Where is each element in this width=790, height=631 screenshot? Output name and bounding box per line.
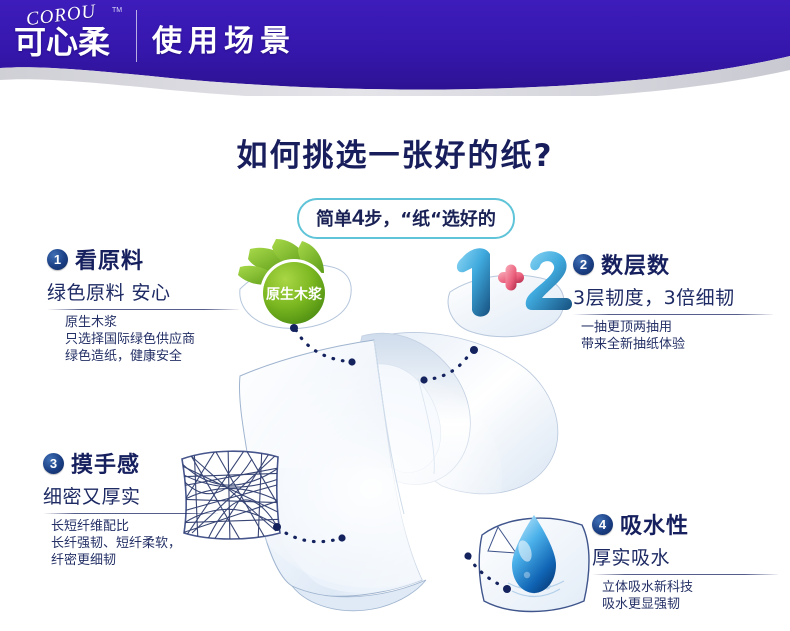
page-root: COROU TM 可心柔 使用场景 如何挑选一张好的纸? 简单4步，“纸“选好的	[0, 0, 790, 631]
step-number-badge-3: 3	[43, 453, 64, 474]
feature-1-desc-line-2: 只选择国际绿色供应商	[65, 331, 239, 348]
feature-2-desc-line-2: 带来全新抽纸体验	[581, 336, 773, 353]
feature-1-subtitle: 绿色原料 安心	[47, 278, 239, 305]
feature-block-1: 1 看原料 绿色原料 安心 原生木浆 只选择国际绿色供应商 绿色造纸，健康安全	[47, 243, 239, 365]
feature-4-subtitle: 厚实吸水	[592, 543, 778, 570]
header-divider	[136, 10, 137, 62]
step-number-badge-1: 1	[47, 249, 68, 270]
one-plus-two-numerals-icon	[440, 232, 575, 352]
feature-4-head: 4 吸水性	[592, 508, 778, 540]
feature-block-3: 3 摸手感 细密又厚实 长短纤维配比 长纤强韧、短纤柔软， 纤密更细韧	[43, 447, 218, 569]
feature-4-description: 立体吸水新科技 吸水更显强韧	[592, 579, 778, 613]
feature-3-description: 长短纤维配比 长纤强韧、短纤柔软， 纤密更细韧	[43, 518, 218, 569]
feature-2-head: 2 数层数	[573, 248, 773, 280]
bubble-prefix: 简单	[316, 209, 352, 230]
feature-4-desc-line-1: 立体吸水新科技	[602, 579, 778, 596]
feature-2-divider	[573, 314, 773, 315]
brand-logo: COROU TM 可心柔	[14, 5, 130, 67]
feature-1-title: 看原料	[75, 243, 144, 275]
feature-2-description: 一抽更顶两抽用 带来全新抽纸体验	[573, 319, 773, 353]
feature-3-desc-line-1: 长短纤维配比	[51, 518, 218, 535]
feature-4-title: 吸水性	[620, 508, 689, 540]
step-number-badge-4: 4	[592, 514, 613, 535]
feature-2-title: 数层数	[601, 248, 670, 280]
bubble-number: 4	[352, 205, 364, 230]
feature-1-desc-line-3: 绿色造纸，健康安全	[65, 348, 239, 365]
feature-1-head: 1 看原料	[47, 243, 239, 275]
feature-2-desc-line-1: 一抽更顶两抽用	[581, 319, 773, 336]
feature-4-divider	[592, 574, 778, 575]
feature-3-desc-line-2: 长纤强韧、短纤柔软，	[51, 535, 218, 552]
trademark-icon: TM	[112, 7, 122, 14]
feature-2-subtitle: 3层韧度，3倍细韧	[573, 283, 773, 310]
feature-4-desc-line-2: 吸水更显强韧	[602, 596, 778, 613]
logo-chinese-text: 可心柔	[14, 23, 110, 61]
feature-block-2: 2 数层数 3层韧度，3倍细韧 一抽更顶两抽用 带来全新抽纸体验	[573, 248, 773, 353]
header-title: 使用场景	[152, 16, 296, 60]
green-leaf-pulp-icon: 原生木浆	[232, 237, 360, 345]
page-title: 如何挑选一张好的纸?	[0, 130, 790, 175]
feature-3-subtitle: 细密又厚实	[43, 482, 218, 509]
feature-3-head: 3 摸手感	[43, 447, 218, 479]
feature-3-desc-line-3: 纤密更细韧	[51, 552, 218, 569]
bubble-suffix: 步，“纸“选好的	[364, 209, 496, 230]
steps-bubble: 简单4步，“纸“选好的	[297, 198, 515, 239]
water-droplet-icon	[472, 505, 597, 623]
feature-1-description: 原生木浆 只选择国际绿色供应商 绿色造纸，健康安全	[47, 314, 239, 365]
step-number-badge-2: 2	[573, 254, 594, 275]
feature-3-title: 摸手感	[71, 447, 140, 479]
feature-block-4: 4 吸水性 厚实吸水 立体吸水新科技 吸水更显强韧	[592, 508, 778, 613]
feature-1-divider	[47, 309, 239, 310]
feature-1-desc-line-1: 原生木浆	[65, 314, 239, 331]
pulp-badge-label: 原生木浆	[266, 286, 323, 303]
feature-3-divider	[43, 513, 218, 514]
header-band: COROU TM 可心柔 使用场景	[0, 0, 790, 96]
